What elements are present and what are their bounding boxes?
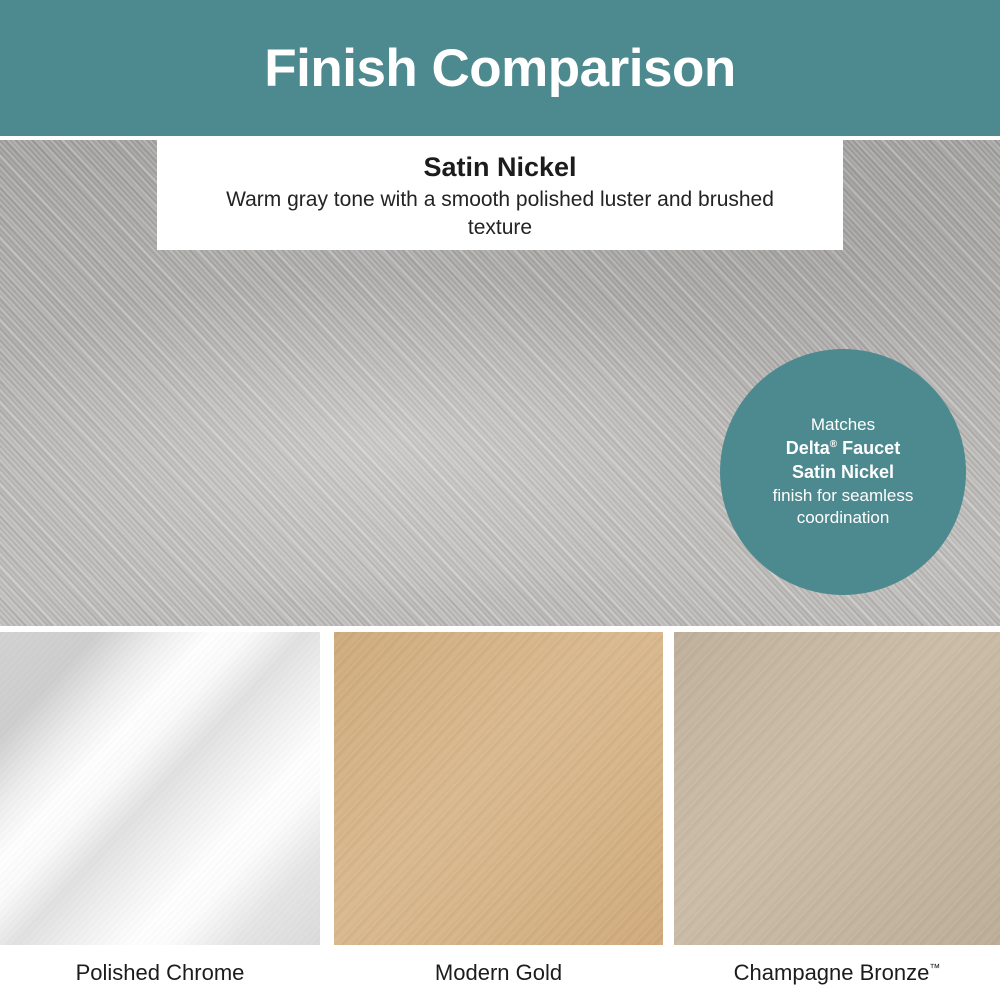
swatch-label-text: Champagne Bronze (734, 960, 930, 985)
badge-line-finish: Satin Nickel (792, 461, 894, 485)
trademark-icon-bronze: ™ (929, 963, 940, 975)
badge-line-brand: Delta® Faucet (786, 437, 900, 461)
page-title: Finish Comparison (264, 42, 735, 95)
swatch-label-modern-gold: Modern Gold (334, 960, 663, 986)
finish-description: Warm gray tone with a smooth polished lu… (200, 186, 800, 241)
badge-line-finish-for: finish for seamless (773, 485, 914, 508)
swatch-modern-gold (334, 632, 663, 945)
matches-delta-badge: Matches Delta® Faucet Satin Nickel finis… (720, 349, 966, 595)
swatch-champagne-bronze (674, 632, 1000, 945)
gold-grain-overlay (334, 632, 663, 945)
swatch-comparison-row: Polished Chrome Modern Gold Champagne Br… (0, 632, 1000, 1000)
badge-brand-suffix: Faucet (837, 438, 900, 458)
bronze-grain-overlay (674, 632, 1000, 945)
badge-brand-name: Delta (786, 438, 830, 458)
swatch-label-polished-chrome: Polished Chrome (0, 960, 320, 986)
chrome-grain-overlay (0, 632, 320, 945)
swatch-label-champagne-bronze: Champagne Bronze™ (674, 960, 1000, 986)
finish-caption-card: Satin Nickel Warm gray tone with a smoot… (157, 140, 843, 250)
finish-name-heading: Satin Nickel (423, 152, 576, 183)
finish-comparison-infographic: Finish Comparison Satin Nickel Warm gray… (0, 0, 1000, 1000)
badge-line-coordination: coordination (797, 507, 890, 530)
header-bar: Finish Comparison (0, 0, 1000, 136)
swatch-label-text: Polished Chrome (76, 960, 245, 985)
swatch-label-text: Modern Gold (435, 960, 562, 985)
badge-line-matches: Matches (811, 414, 875, 437)
swatch-polished-chrome (0, 632, 320, 945)
